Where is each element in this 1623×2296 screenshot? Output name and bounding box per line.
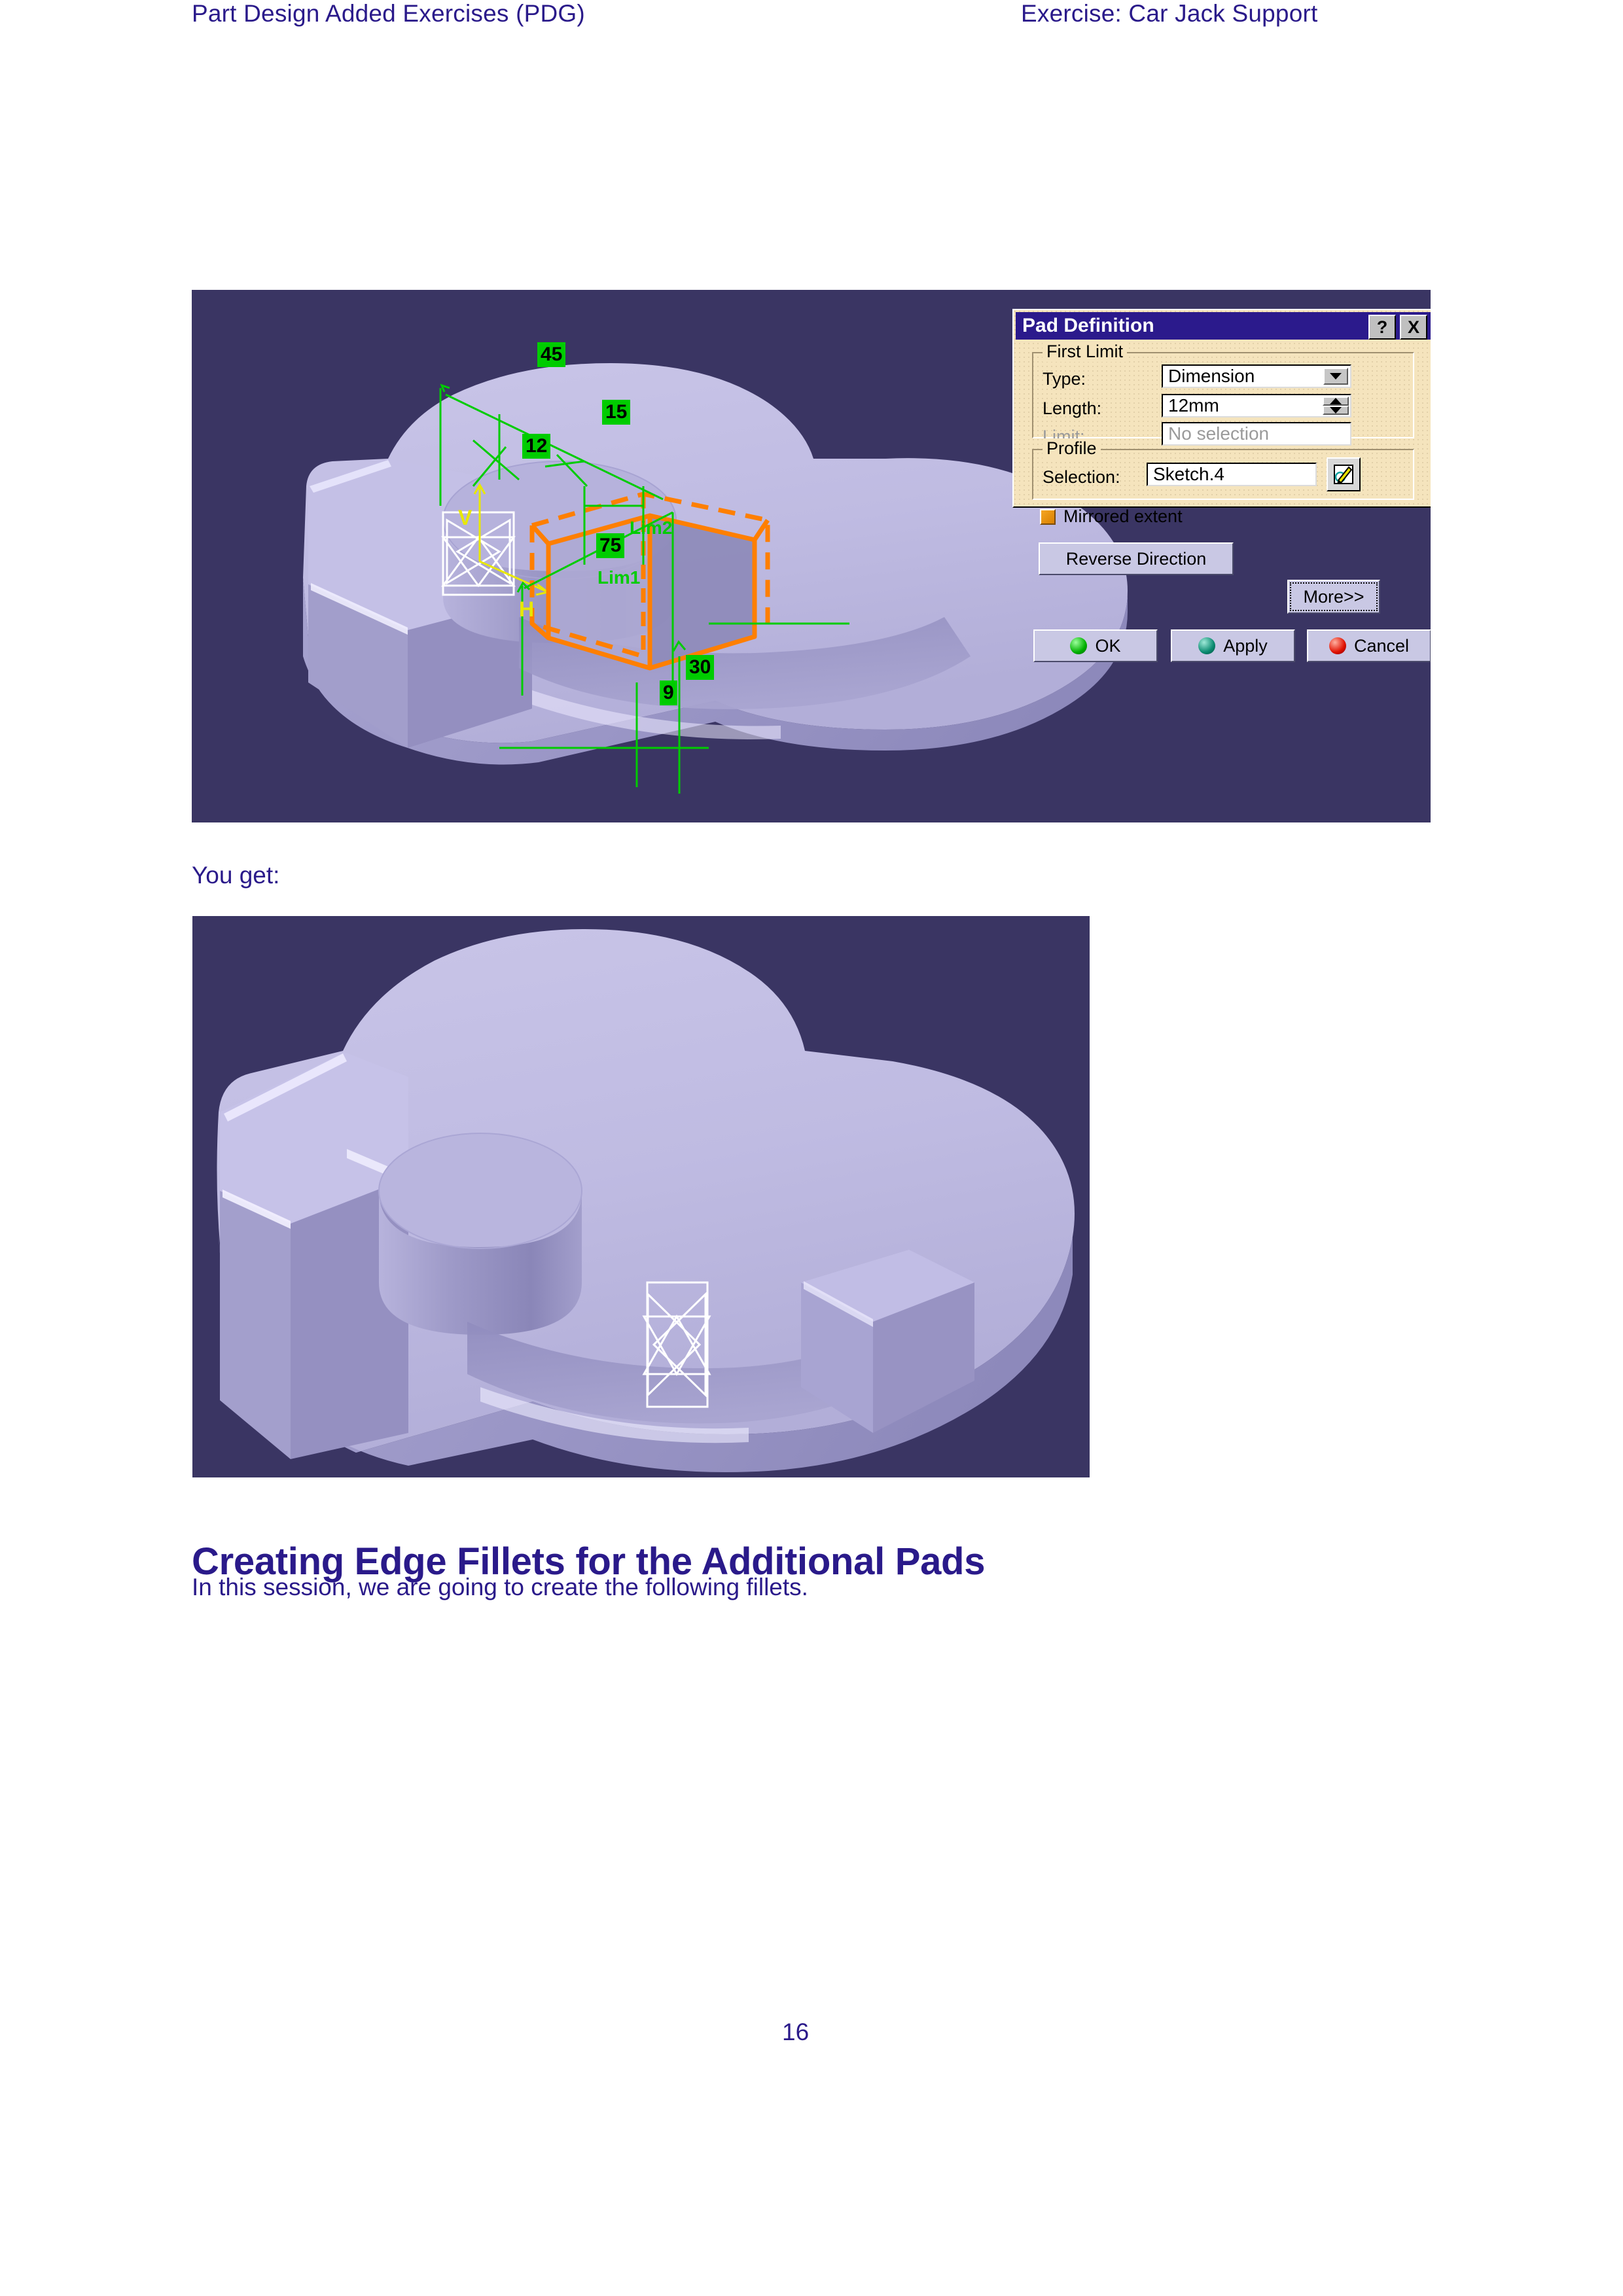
- first-limit-legend: First Limit: [1043, 342, 1127, 362]
- mirrored-extent-row[interactable]: Mirrored extent: [1040, 506, 1183, 527]
- document-page: Part Design Added Exercises (PDG) Exerci…: [0, 0, 1623, 2296]
- profile-selection-input[interactable]: Sketch.4: [1147, 463, 1317, 486]
- red-led-icon: [1329, 637, 1346, 654]
- type-value: Dimension: [1168, 366, 1255, 387]
- page-number: 16: [782, 2019, 809, 2046]
- type-select[interactable]: Dimension: [1162, 364, 1351, 388]
- length-input[interactable]: 12mm: [1162, 394, 1351, 417]
- apply-label: Apply: [1223, 636, 1268, 656]
- header-left: Part Design Added Exercises (PDG): [192, 0, 585, 27]
- teal-led-icon: [1198, 637, 1215, 654]
- sketch-pencil-icon[interactable]: [1327, 457, 1361, 491]
- profile-legend: Profile: [1043, 438, 1101, 459]
- ok-label: OK: [1095, 636, 1120, 656]
- titlebar-buttons: ? X: [1368, 315, 1427, 340]
- type-label: Type:: [1043, 369, 1086, 389]
- green-led-icon: [1070, 637, 1087, 654]
- more-button[interactable]: More>>: [1287, 580, 1380, 614]
- pad-definition-dialog[interactable]: Pad Definition ? X First Limit Type: Dim…: [1012, 309, 1431, 508]
- limit-selection-field[interactable]: No selection: [1162, 422, 1351, 446]
- limit-value: No selection: [1168, 423, 1269, 444]
- selection-label: Selection:: [1043, 467, 1120, 487]
- limit-label-2: Lim2: [630, 518, 672, 539]
- part-3d-model-result: [192, 916, 1090, 1477]
- selection-value: Sketch.4: [1153, 464, 1224, 485]
- axis-label-h: H: [519, 597, 534, 622]
- cad-screenshot-bottom: [192, 916, 1090, 1477]
- dimension-tag: 30: [686, 655, 714, 680]
- dimension-tag: 45: [537, 342, 565, 367]
- mirrored-extent-label: Mirrored extent: [1063, 506, 1183, 527]
- dimension-tag: 12: [522, 434, 550, 459]
- cancel-label: Cancel: [1354, 636, 1409, 656]
- cancel-button[interactable]: Cancel: [1307, 629, 1431, 662]
- dimension-tag: 15: [602, 400, 630, 425]
- quantity-stepper[interactable]: [1323, 397, 1349, 415]
- header-right: Exercise: Car Jack Support: [1021, 0, 1317, 27]
- chevron-down-icon[interactable]: [1323, 368, 1348, 385]
- reverse-direction-label: Reverse Direction: [1066, 549, 1207, 569]
- stepper-up-icon[interactable]: [1323, 397, 1349, 406]
- stepper-down-icon[interactable]: [1323, 406, 1349, 415]
- checkbox-icon[interactable]: [1040, 509, 1056, 525]
- more-label: More>>: [1303, 587, 1364, 607]
- help-icon[interactable]: ?: [1368, 315, 1396, 340]
- close-icon[interactable]: X: [1400, 315, 1427, 340]
- cad-screenshot-top: 45 15 12 75 9 30 V H Lim2 Lim1 Pad Defin…: [192, 290, 1431, 822]
- limit-label-1: Lim1: [597, 567, 640, 588]
- length-label: Length:: [1043, 398, 1101, 419]
- intro-paragraph: In this session, we are going to create …: [192, 1574, 808, 1601]
- dimension-tag: 9: [660, 680, 677, 705]
- length-value: 12mm: [1168, 395, 1219, 416]
- reverse-direction-button[interactable]: Reverse Direction: [1039, 542, 1234, 575]
- dialog-titlebar[interactable]: Pad Definition ? X: [1016, 312, 1431, 340]
- ok-button[interactable]: OK: [1033, 629, 1158, 662]
- you-get-text: You get:: [192, 862, 279, 889]
- apply-button[interactable]: Apply: [1171, 629, 1295, 662]
- axis-label-v: V: [458, 506, 472, 530]
- dimension-tag: 75: [596, 533, 624, 558]
- dialog-title: Pad Definition: [1022, 315, 1154, 337]
